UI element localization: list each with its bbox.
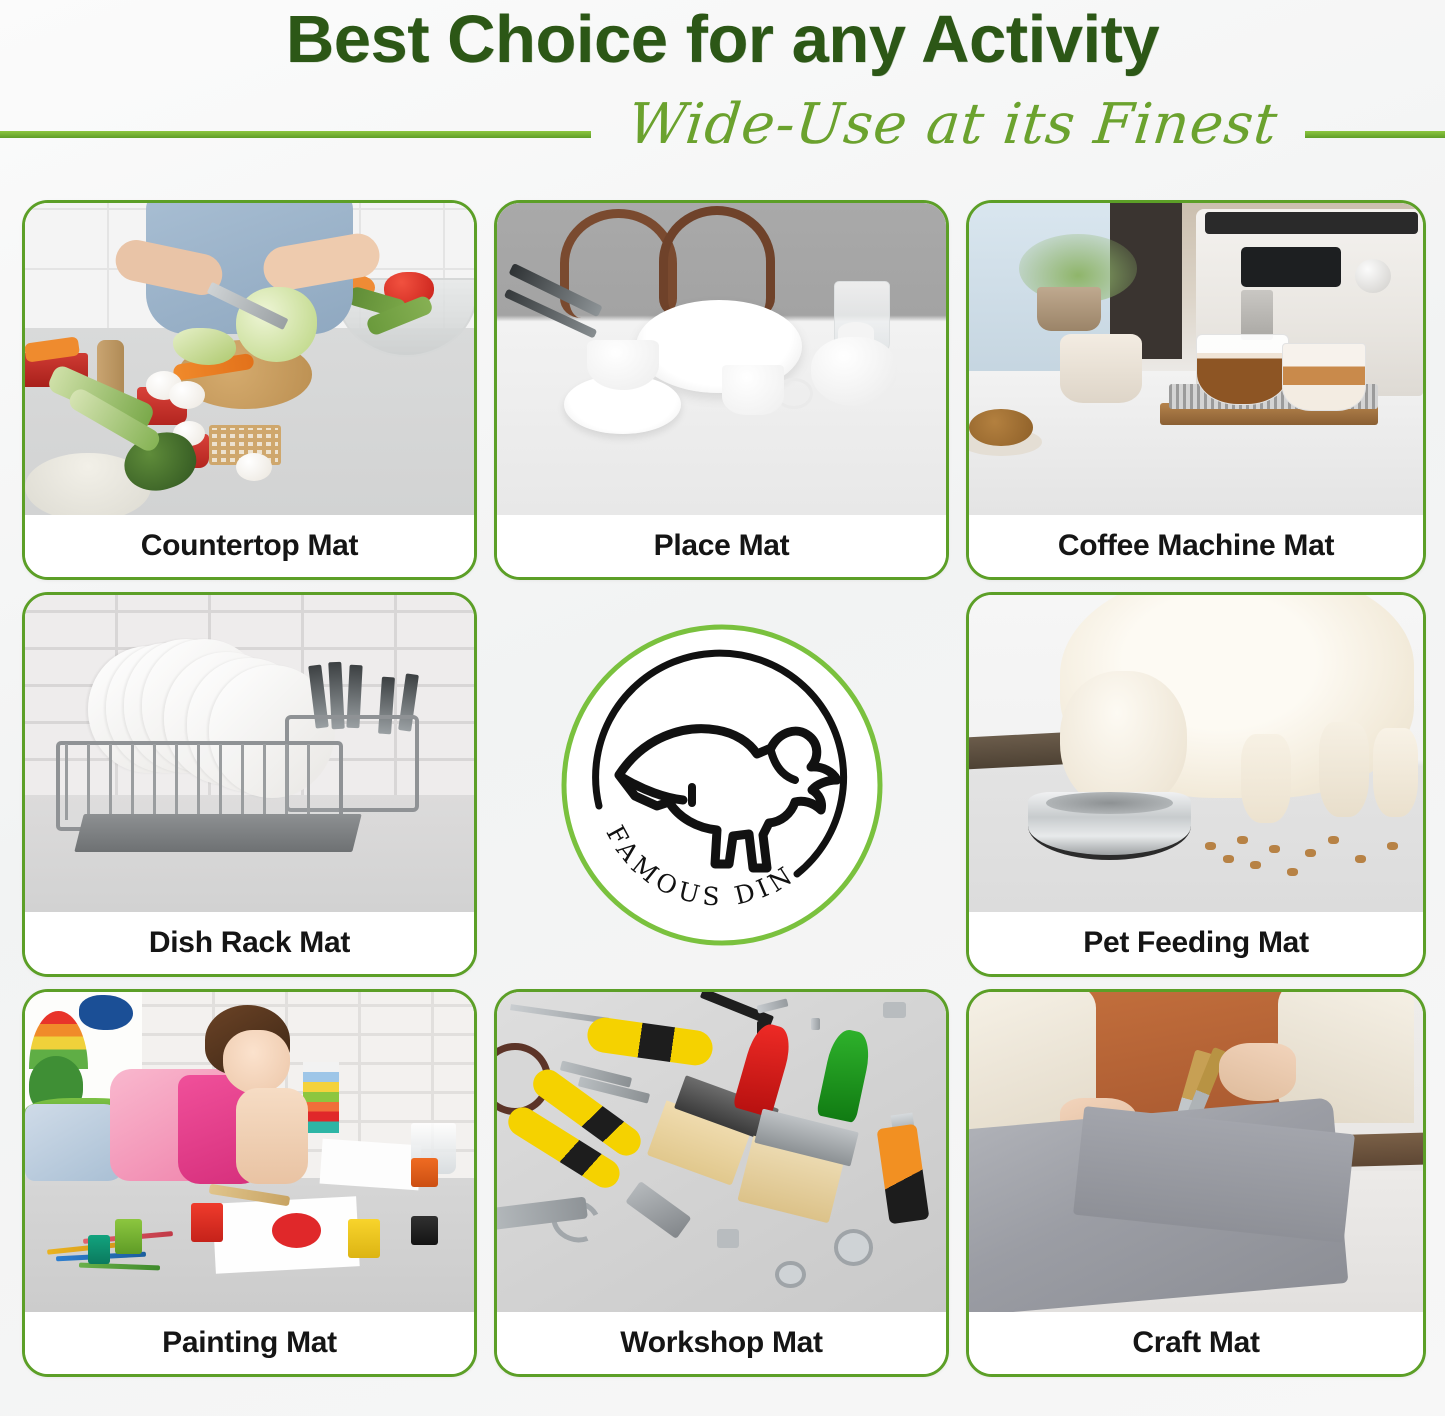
card-dish-rack-mat[interactable]: Dish Rack Mat — [22, 592, 477, 977]
photo-painting-mat — [25, 992, 474, 1312]
photo-countertop-mat — [25, 203, 474, 515]
page-title: Best Choice for any Activity — [0, 2, 1445, 77]
card-place-mat[interactable]: Place Mat — [494, 200, 949, 580]
card-label-coffee-machine-mat: Coffee Machine Mat — [969, 515, 1423, 577]
divider-left — [0, 131, 591, 138]
page-subtitle: Wide-Use at its Finest — [595, 92, 1312, 157]
header: Best Choice for any Activity Wide-Use at… — [0, 0, 1445, 182]
photo-place-mat — [497, 203, 946, 515]
feature-card-grid: Countertop Mat Place Mat Coffee M — [22, 200, 1426, 1377]
photo-pet-feeding-mat — [969, 595, 1423, 912]
photo-craft-mat — [969, 992, 1423, 1312]
brand-logo: FAMOUS DINO — [494, 592, 949, 977]
card-label-painting-mat: Painting Mat — [25, 1312, 474, 1374]
photo-dish-rack-mat — [25, 595, 474, 912]
card-workshop-mat[interactable]: Workshop Mat — [494, 989, 949, 1377]
card-label-dish-rack-mat: Dish Rack Mat — [25, 912, 474, 974]
card-label-pet-feeding-mat: Pet Feeding Mat — [969, 912, 1423, 974]
card-painting-mat[interactable]: Painting Mat — [22, 989, 477, 1377]
photo-workshop-mat — [497, 992, 946, 1312]
card-label-craft-mat: Craft Mat — [969, 1312, 1423, 1374]
photo-coffee-machine-mat — [969, 203, 1423, 515]
card-coffee-machine-mat[interactable]: Coffee Machine Mat — [966, 200, 1426, 580]
subtitle-row: Wide-Use at its Finest — [0, 92, 1445, 172]
card-label-place-mat: Place Mat — [497, 515, 946, 577]
card-countertop-mat[interactable]: Countertop Mat — [22, 200, 477, 580]
card-pet-feeding-mat[interactable]: Pet Feeding Mat — [966, 592, 1426, 977]
card-label-workshop-mat: Workshop Mat — [497, 1312, 946, 1374]
card-label-countertop-mat: Countertop Mat — [25, 515, 474, 577]
divider-right — [1305, 131, 1445, 138]
famous-dino-logo-icon: FAMOUS DINO — [557, 620, 887, 950]
card-craft-mat[interactable]: Craft Mat — [966, 989, 1426, 1377]
